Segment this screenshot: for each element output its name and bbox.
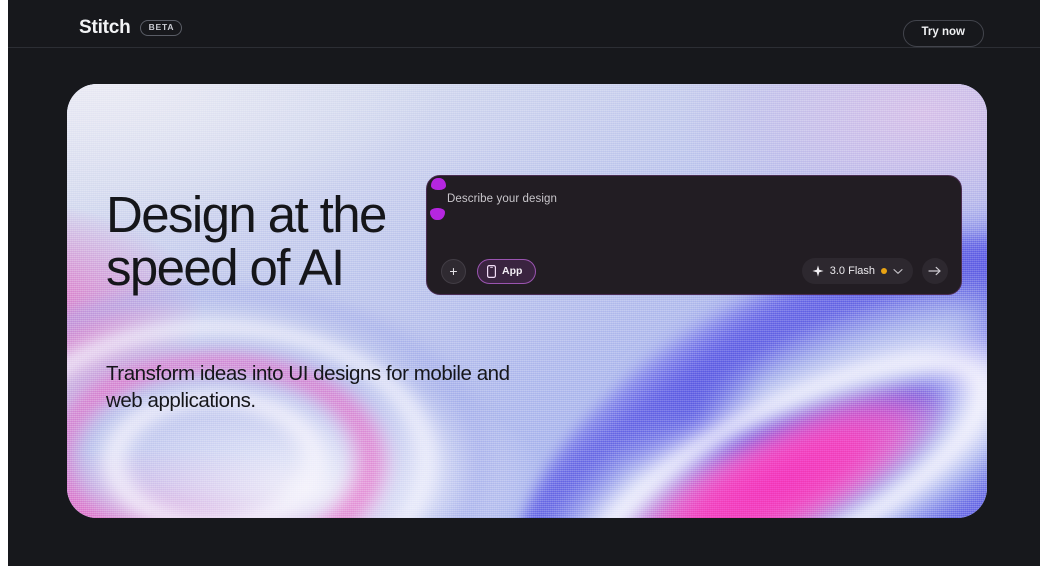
brand: Stitch BETA [79, 17, 182, 39]
app-window: Stitch BETA Try now Design at the speed … [8, 0, 1040, 566]
selection-handle-top-icon[interactable] [431, 178, 446, 190]
beta-badge: BETA [140, 20, 183, 36]
model-name-label: 3.0 Flash [830, 265, 875, 277]
prompt-card-toolbar: + App [427, 248, 961, 294]
hero-panel: Design at the speed of AI Transform idea… [67, 84, 987, 518]
prompt-card[interactable]: Describe your design + App [426, 175, 962, 295]
plus-icon: + [449, 264, 457, 278]
phone-icon [487, 265, 496, 278]
add-attachment-button[interactable]: + [441, 259, 466, 284]
model-status-dot-icon [881, 268, 887, 274]
app-header: Stitch BETA Try now [8, 0, 1040, 48]
arrow-right-icon [928, 265, 942, 277]
app-mode-chip[interactable]: App [477, 259, 536, 284]
prompt-input-placeholder[interactable]: Describe your design [447, 193, 557, 205]
try-now-button[interactable]: Try now [903, 20, 984, 47]
app-mode-chip-label: App [502, 265, 522, 277]
hero-headline: Design at the speed of AI [106, 188, 386, 294]
model-selector[interactable]: 3.0 Flash [802, 258, 913, 284]
brand-name: Stitch [79, 17, 131, 39]
grain-texture [67, 84, 987, 518]
selection-handle-bottom-icon[interactable] [430, 208, 445, 220]
sparkle-icon [812, 265, 824, 277]
chevron-down-icon [893, 268, 903, 275]
send-prompt-button[interactable] [922, 258, 948, 284]
hero-subheading: Transform ideas into UI designs for mobi… [106, 360, 666, 415]
